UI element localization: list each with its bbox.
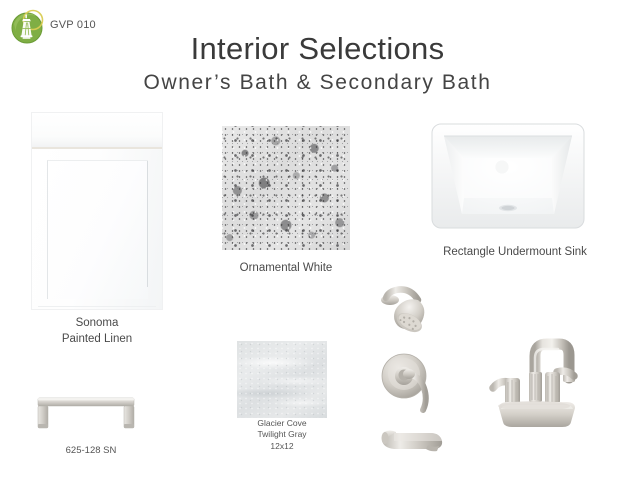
cabinet-shaker-panel xyxy=(47,160,148,299)
tile-grain xyxy=(237,341,327,418)
cabinet-door-sample xyxy=(32,113,162,309)
selection-board: GVP 010 Interior Selections Owner’s Bath… xyxy=(0,0,635,480)
countertop-caption: Ornamental White xyxy=(206,261,366,277)
lavatory-faucet-image xyxy=(483,316,593,434)
page-subtitle: Owner’s Bath & Secondary Bath xyxy=(0,72,635,94)
sink-caption: Rectangle Undermount Sink xyxy=(420,245,610,261)
cabinet-drawer-front xyxy=(32,113,162,148)
pull-caption: 625-128 SN xyxy=(26,445,156,458)
cabinet-bottom-edge xyxy=(38,306,156,307)
cabinet-pull-image xyxy=(30,390,142,438)
granite-speckle-coarse xyxy=(222,126,350,250)
cabinet-door-front xyxy=(32,150,162,309)
cabinet-caption: Sonoma Painted Linen xyxy=(12,316,182,347)
floor-tile-sample xyxy=(237,341,327,418)
project-code: GVP 010 xyxy=(50,19,96,31)
shower-tub-trim-image xyxy=(368,280,460,456)
page-title: Interior Selections xyxy=(0,33,635,66)
cabinet-panel-shadow xyxy=(147,161,148,287)
countertop-sample xyxy=(222,126,350,250)
undermount-sink-image xyxy=(428,118,588,238)
tile-caption: Glacier Cove Twilight Gray 12x12 xyxy=(232,418,332,452)
